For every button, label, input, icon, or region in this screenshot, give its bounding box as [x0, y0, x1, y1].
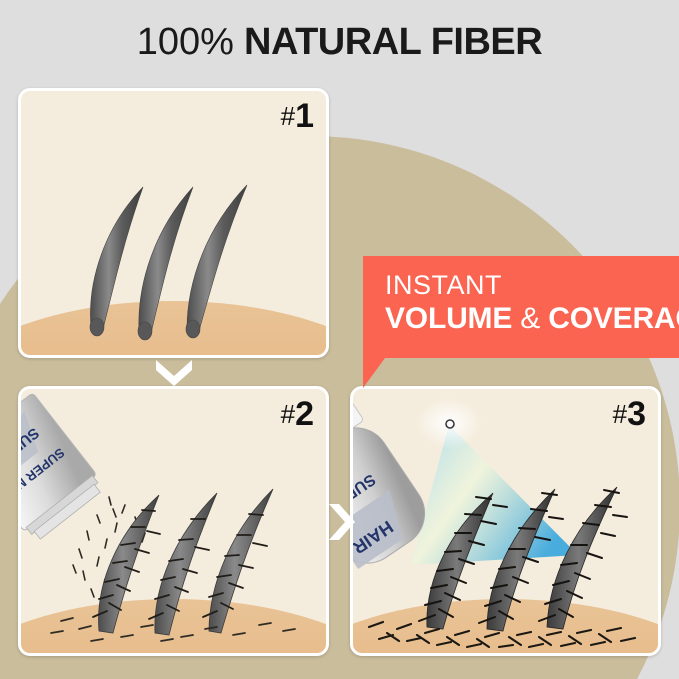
step-digit-3: 3	[627, 395, 646, 433]
banner-line-volume-coverage: VOLUME & COVERAGE	[385, 302, 679, 336]
banner-line-instant: INSTANT	[385, 270, 679, 300]
step-panel-2: SUPER MI SUPER MIL	[18, 386, 329, 656]
banner-ampersand: &	[520, 302, 540, 335]
step-hash-1: #	[281, 101, 295, 131]
arrow-down-icon	[150, 356, 198, 386]
step-number-2: #2	[281, 395, 314, 433]
infographic-stage: 100% NATURAL FIBER	[0, 0, 679, 679]
step-number-3: #3	[613, 395, 646, 433]
step-panel-1: #1	[18, 88, 329, 358]
page-title: 100% NATURAL FIBER	[0, 22, 679, 62]
step-hash-2: #	[281, 399, 295, 429]
banner-word-volume: VOLUME	[385, 302, 512, 335]
nozzle-icon	[446, 420, 454, 428]
title-main: NATURAL FIBER	[244, 21, 542, 63]
step-panel-3: SUPER HAIR	[350, 386, 661, 656]
step-hash-3: #	[613, 399, 627, 429]
step-number-1: #1	[281, 97, 314, 135]
step-digit-2: 2	[295, 395, 314, 433]
banner-word-coverage: COVERAGE	[548, 302, 679, 335]
arrow-right-icon	[325, 498, 355, 546]
instant-volume-banner: INSTANT VOLUME & COVERAGE	[363, 256, 679, 358]
title-percent: 100%	[137, 21, 234, 63]
step-digit-1: 1	[295, 97, 314, 135]
fiber-bottle: SUPER MI SUPER MIL	[21, 393, 107, 545]
banner-tail	[363, 358, 385, 388]
